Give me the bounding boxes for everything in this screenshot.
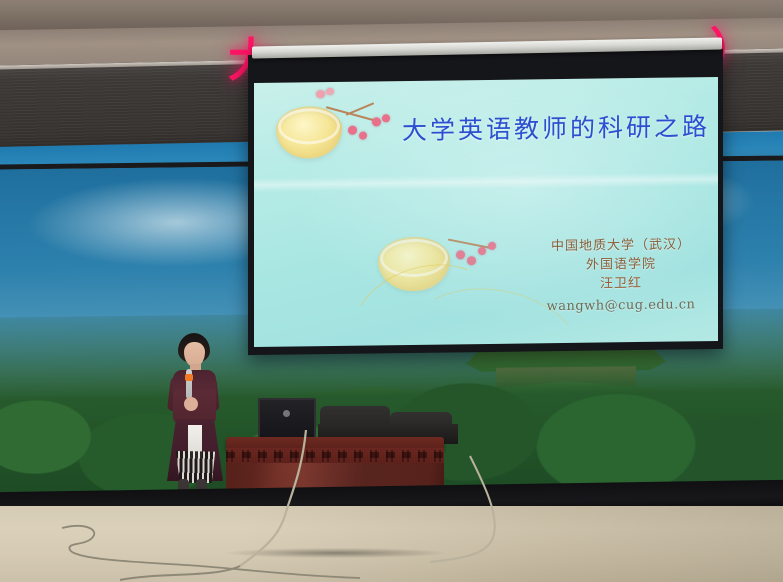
plum-blossom <box>467 256 476 265</box>
plum-blossom <box>372 117 381 126</box>
plum-blossom <box>326 88 334 95</box>
blossom-branch <box>346 102 374 115</box>
teacup-graphic-upper <box>272 87 402 169</box>
plum-blossom <box>316 90 325 98</box>
plum-blossom <box>456 250 465 259</box>
presenter-hand <box>184 397 198 411</box>
plum-blossom <box>359 132 367 140</box>
plum-blossom <box>478 247 486 255</box>
plum-blossom <box>382 114 390 122</box>
plum-blossom <box>488 242 496 250</box>
stage-cables <box>0 430 783 582</box>
slide-byline-block: 中国地质大学（武汉） 外国语学院 汪卫红 wangwh@cug.edu.cn <box>532 235 710 316</box>
blossom-branch <box>448 239 493 249</box>
slide-affiliation-university: 中国地质大学（武汉） <box>532 235 710 256</box>
projector-screen-surface: 大学英语教师的科研之路 中国地质大学（武汉） 外国语学院 汪卫红 wangwh@… <box>254 77 718 347</box>
plum-blossom <box>348 126 357 135</box>
microphone-accent <box>185 374 193 381</box>
screen-glare <box>254 172 718 192</box>
slide-title: 大学英语教师的科研之路 <box>402 107 710 147</box>
slide-affiliation-school: 外国语学院 <box>532 254 710 275</box>
laptop-logo <box>283 410 290 417</box>
presenter-torso <box>173 370 216 422</box>
lecture-hall-screenshot: 大 ） <box>0 0 783 582</box>
slide-presenter-email: wangwh@cug.edu.cn <box>532 295 710 316</box>
slide-presenter-name: 汪卫红 <box>532 273 710 294</box>
